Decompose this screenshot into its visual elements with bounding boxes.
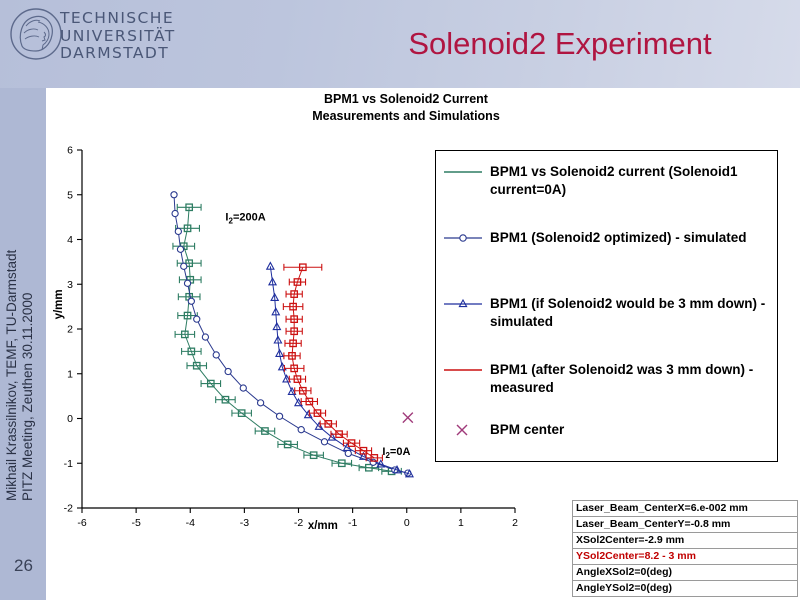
data-point-marker xyxy=(276,413,282,419)
data-point-marker xyxy=(213,352,219,358)
sidebar-author-meeting-text: Mikhail Krassilnikov, TEMF, TU-Darmstadt… xyxy=(0,81,43,501)
legend-label: BPM1 vs Solenoid2 current (Solenoid1 cur… xyxy=(490,163,779,198)
svg-text:I2=0A: I2=0A xyxy=(382,446,410,460)
legend-label: BPM center xyxy=(490,421,568,439)
y-axis-tick-label: 1 xyxy=(67,368,73,380)
table-row: Laser_Beam_CenterY=-0.8 mm xyxy=(573,517,798,533)
legend-item: BPM center xyxy=(436,421,779,439)
data-point-marker xyxy=(172,210,178,216)
page-title: Solenoid2 Experiment xyxy=(330,26,790,62)
svg-text:I2=200A: I2=200A xyxy=(225,212,265,226)
data-point-marker xyxy=(171,192,177,198)
x-axis-tick-label: 0 xyxy=(404,517,410,529)
x-axis-tick-label: -6 xyxy=(77,517,86,529)
data-point-marker xyxy=(240,385,246,391)
legend-marker-line-circle-icon xyxy=(436,229,490,247)
data-point-marker xyxy=(225,368,231,374)
legend-label: BPM1 (if Solenoid2 would be 3 mm down) -… xyxy=(490,295,779,330)
data-point-marker xyxy=(177,246,183,252)
table-row: XSol2Center=-2.9 mm xyxy=(573,533,798,549)
x-axis-tick-label: -5 xyxy=(131,517,140,529)
data-point-marker xyxy=(258,400,264,406)
data-point-marker xyxy=(202,334,208,340)
legend-marker-cross-icon xyxy=(436,421,490,439)
legend-item: BPM1 (if Solenoid2 would be 3 mm down) -… xyxy=(436,295,779,330)
chart-annotation: I2=200A xyxy=(225,212,265,226)
university-name: TECHNISCHE UNIVERSITÄT DARMSTADT xyxy=(60,10,176,63)
table-row: AngleXSol2=0(deg) xyxy=(573,565,798,581)
series-line xyxy=(184,207,392,471)
legend-item: BPM1 (Solenoid2 optimized) - simulated xyxy=(436,229,779,247)
y-axis-tick-label: 3 xyxy=(67,279,73,291)
slide-header: TECHNISCHE UNIVERSITÄT DARMSTADT Solenoi… xyxy=(0,0,800,88)
y-axis-tick-label: 6 xyxy=(67,145,73,157)
y-axis-tick-label: -1 xyxy=(64,458,73,470)
legend-label: BPM1 (Solenoid2 optimized) - simulated xyxy=(490,229,751,247)
parameters-table: Laser_Beam_CenterX=6.e-002 mmLaser_Beam_… xyxy=(572,500,798,597)
data-point-marker xyxy=(298,427,304,433)
parameter-cell: XSol2Center=-2.9 mm xyxy=(573,533,798,549)
y-axis-tick-label: 2 xyxy=(67,324,73,336)
y-axis-label: y/mm xyxy=(53,289,65,319)
y-axis-tick-label: -2 xyxy=(64,503,73,515)
parameter-cell: Laser_Beam_CenterX=6.e-002 mm xyxy=(573,501,798,517)
data-point-marker xyxy=(345,450,351,456)
parameter-cell: AngleYSol2=0(deg) xyxy=(573,581,798,597)
page-number: 26 xyxy=(14,556,33,576)
parameters-table-body: Laser_Beam_CenterX=6.e-002 mmLaser_Beam_… xyxy=(573,501,798,597)
data-point-marker xyxy=(184,280,190,286)
x-axis-tick-label: 2 xyxy=(512,517,518,529)
chart-annotation: I2=0A xyxy=(382,446,410,460)
y-axis-tick-label: 0 xyxy=(67,413,73,425)
legend-marker-line-icon xyxy=(436,163,490,181)
data-point-marker xyxy=(188,298,194,304)
parameter-cell: AngleXSol2=0(deg) xyxy=(573,565,798,581)
legend-item: BPM1 (after Solenoid2 was 3 mm down) - m… xyxy=(436,361,779,396)
legend-label: BPM1 (after Solenoid2 was 3 mm down) - m… xyxy=(490,361,779,396)
table-row: AngleYSol2=0(deg) xyxy=(573,581,798,597)
x-axis-tick-label: -1 xyxy=(348,517,357,529)
x-axis-tick-label: -2 xyxy=(294,517,303,529)
table-row: YSol2Center=8.2 - 3 mm xyxy=(573,549,798,565)
university-name-line-1: TECHNISCHE xyxy=(60,10,176,28)
sidebar: Mikhail Krassilnikov, TEMF, TU-Darmstadt… xyxy=(0,88,46,600)
table-row: Laser_Beam_CenterX=6.e-002 mm xyxy=(573,501,798,517)
y-axis-tick-label: 5 xyxy=(67,189,73,201)
x-axis-tick-label: -4 xyxy=(186,517,195,529)
university-name-line-3: DARMSTADT xyxy=(60,45,176,63)
data-point-marker xyxy=(321,439,327,445)
tu-darmstadt-logo-icon xyxy=(8,6,64,62)
data-point-marker xyxy=(194,316,200,322)
parameter-cell: YSol2Center=8.2 - 3 mm xyxy=(573,549,798,565)
university-name-line-2: UNIVERSITÄT xyxy=(60,28,176,46)
sidebar-author-line: Mikhail Krassilnikov, TEMF, TU-Darmstadt xyxy=(4,250,20,501)
parameter-cell: Laser_Beam_CenterY=-0.8 mm xyxy=(573,517,798,533)
x-axis-tick-label: 1 xyxy=(458,517,464,529)
chart-legend: BPM1 vs Solenoid2 current (Solenoid1 cur… xyxy=(435,150,778,462)
legend-item: BPM1 vs Solenoid2 current (Solenoid1 cur… xyxy=(436,163,779,198)
legend-marker-line-triangle-icon xyxy=(436,295,490,313)
sidebar-meeting-line: PITZ Meeting, Zeuthen 30.11.2000 xyxy=(20,250,36,501)
data-point-marker xyxy=(175,228,181,234)
legend-marker-line-icon xyxy=(436,361,490,379)
x-axis-label: x/mm xyxy=(308,520,338,532)
data-point-marker xyxy=(181,263,187,269)
y-axis-tick-label: 4 xyxy=(67,234,73,246)
chart-series xyxy=(403,413,413,423)
x-axis-tick-label: -3 xyxy=(240,517,249,529)
